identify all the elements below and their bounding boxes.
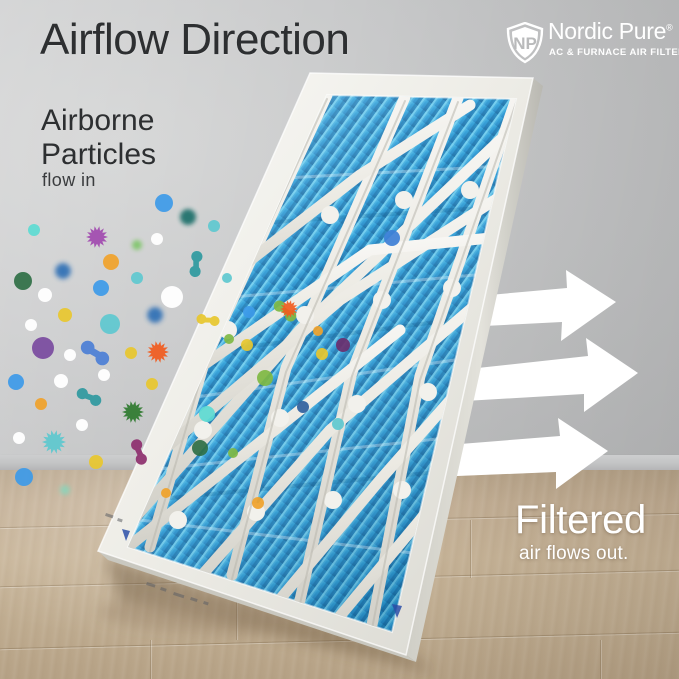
nordic-pure-logo[interactable]: NP Nordic Pure® AC & FURNACE AIR FILTERS	[506, 22, 666, 62]
airborne-particles-line2: Particles	[41, 138, 156, 172]
logo-tagline: AC & FURNACE AIR FILTERS	[549, 47, 679, 58]
np-shield-icon: NP	[506, 22, 544, 64]
airborne-particles-line1: Airborne	[41, 104, 156, 138]
logo-brand-name: Nordic Pure®	[548, 18, 672, 45]
page-title: Airflow Direction	[40, 15, 349, 65]
flow-in-label: flow in	[42, 170, 96, 191]
np-shield-text: NP	[513, 34, 537, 53]
logo-registered-mark: ®	[666, 22, 672, 32]
airflow-direction-infographic: Airflow Direction Airborne Particles flo…	[0, 0, 679, 679]
logo-brand-text: Nordic Pure	[548, 18, 666, 44]
airborne-particles-label: Airborne Particles	[41, 104, 156, 172]
air-flows-out-label: air flows out.	[519, 543, 628, 565]
wall-shading	[0, 0, 679, 472]
filtered-label: Filtered	[515, 498, 646, 543]
